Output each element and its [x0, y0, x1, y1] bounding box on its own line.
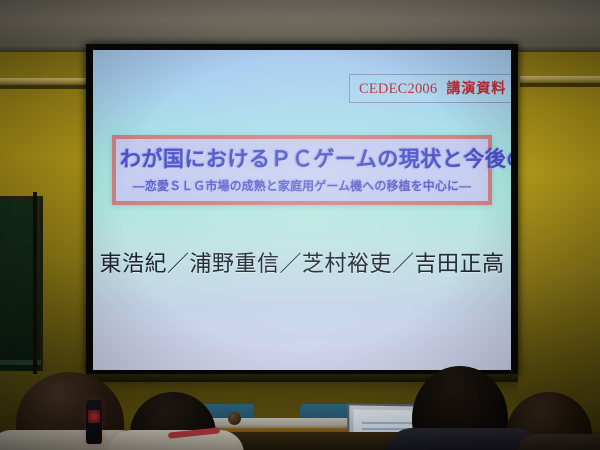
right-wall	[516, 52, 600, 450]
cedec-badge: CEDEC2006 講演資料	[349, 74, 511, 103]
badge-event-name: CEDEC2006	[359, 81, 437, 98]
slide-title-box: わが国におけるＰＣゲームの現状と今後の展望 ―恋愛ＳＬＧ市場の成熟と家庭用ゲーム…	[112, 135, 492, 205]
slide-authors: 東浩紀／浦野重信／芝村裕吏／吉田正高	[93, 246, 511, 278]
wall-rail-left-shadow	[0, 85, 92, 89]
wall-rail-left	[0, 78, 92, 85]
badge-document-type: 講演資料	[446, 78, 506, 98]
slide-subtitle: ―恋愛ＳＬＧ市場の成熟と家庭用ゲーム機への移植を中心に―	[120, 177, 484, 194]
mug	[228, 412, 241, 425]
mobile-phone	[86, 400, 102, 444]
blackboard-post	[33, 192, 37, 374]
mobile-phone-screen	[88, 410, 100, 423]
laptop-screen-text-line	[362, 428, 406, 430]
wall-rail-right	[520, 76, 600, 83]
wall-rail-right-shadow	[520, 83, 600, 87]
slide-title: わが国におけるＰＣゲームの現状と今後の展望	[120, 148, 484, 173]
audience-shoulders	[516, 434, 600, 450]
conference-room-photo: CEDEC2006 講演資料 わが国におけるＰＣゲームの現状と今後の展望 ―恋愛…	[0, 0, 600, 450]
projected-slide: CEDEC2006 講演資料 わが国におけるＰＣゲームの現状と今後の展望 ―恋愛…	[93, 50, 511, 370]
laptop-screen-text-line	[362, 422, 415, 424]
